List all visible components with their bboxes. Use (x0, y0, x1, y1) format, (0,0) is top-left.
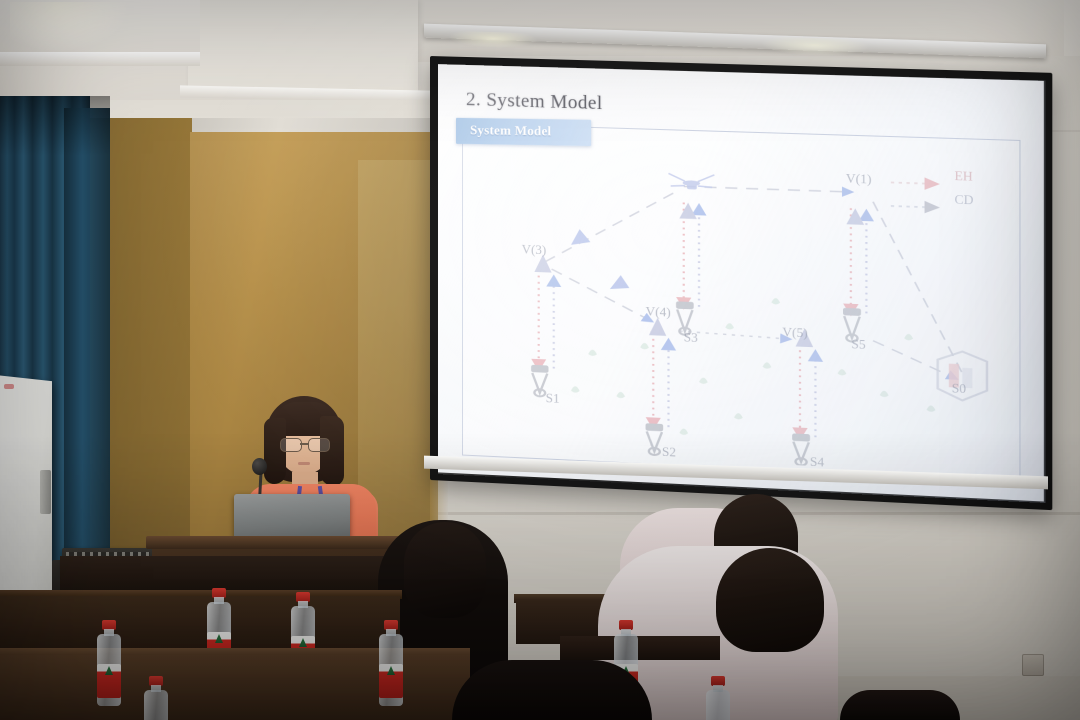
projection-screen: 2. System Model System Model (430, 56, 1052, 510)
presentation-slide: 2. System Model System Model (438, 64, 1044, 501)
water-bottle[interactable] (96, 620, 122, 706)
bottle-body (706, 690, 730, 720)
ceiling-light-glow (10, 2, 130, 52)
slide-section-banner: System Model (456, 118, 591, 146)
ceiling-light-reflection-left (448, 31, 538, 50)
projection-screen-surface: 2. System Model System Model (438, 64, 1044, 501)
diagram-legend (891, 182, 936, 207)
wall-outlet (1022, 654, 1044, 676)
water-bottle[interactable] (705, 676, 731, 720)
audience-head-front-right (716, 548, 824, 652)
table-mid (0, 596, 400, 652)
glasses-lens-left (280, 438, 302, 452)
ceiling-edge (0, 52, 200, 66)
ceiling-soffit-center (188, 0, 418, 92)
microphone-icon (252, 458, 267, 475)
uav-drone-icon (668, 173, 714, 190)
conference-room-photo: 2. System Model System Model (0, 0, 1080, 720)
vegetation-icons (571, 290, 935, 446)
slide-title: 2. System Model (466, 89, 603, 115)
vertex-markers (534, 197, 864, 349)
podium-top-surface (146, 536, 402, 549)
glasses-lens-right (308, 438, 330, 452)
flipchart-marking (4, 384, 14, 389)
energy-data-links (539, 198, 867, 440)
system-model-diagram: V(1) V(3) V(4) V(5) S0 S1 S2 S3 S4 S5 EH… (468, 149, 1016, 475)
bottle-body (144, 690, 168, 720)
table-right-lower (560, 636, 720, 660)
water-bottle[interactable] (143, 676, 169, 720)
audience-member-foreground (452, 660, 652, 720)
sensor-icons (532, 297, 859, 468)
presenter-glasses (280, 438, 328, 450)
route-edges (545, 182, 962, 379)
curtain-top-shadow (0, 96, 110, 156)
flipchart-clip (40, 470, 51, 514)
base-station-icon (938, 351, 987, 402)
diagram-svg (468, 149, 1016, 475)
presenter-mouth (298, 462, 310, 465)
ceiling-light-reflection-right (760, 36, 870, 58)
slide-banner-label: System Model (470, 122, 551, 139)
audience-head-left (404, 522, 486, 618)
audience-member-foreground-right (840, 690, 960, 720)
water-bottle[interactable] (378, 620, 404, 706)
glasses-bridge (300, 443, 308, 445)
